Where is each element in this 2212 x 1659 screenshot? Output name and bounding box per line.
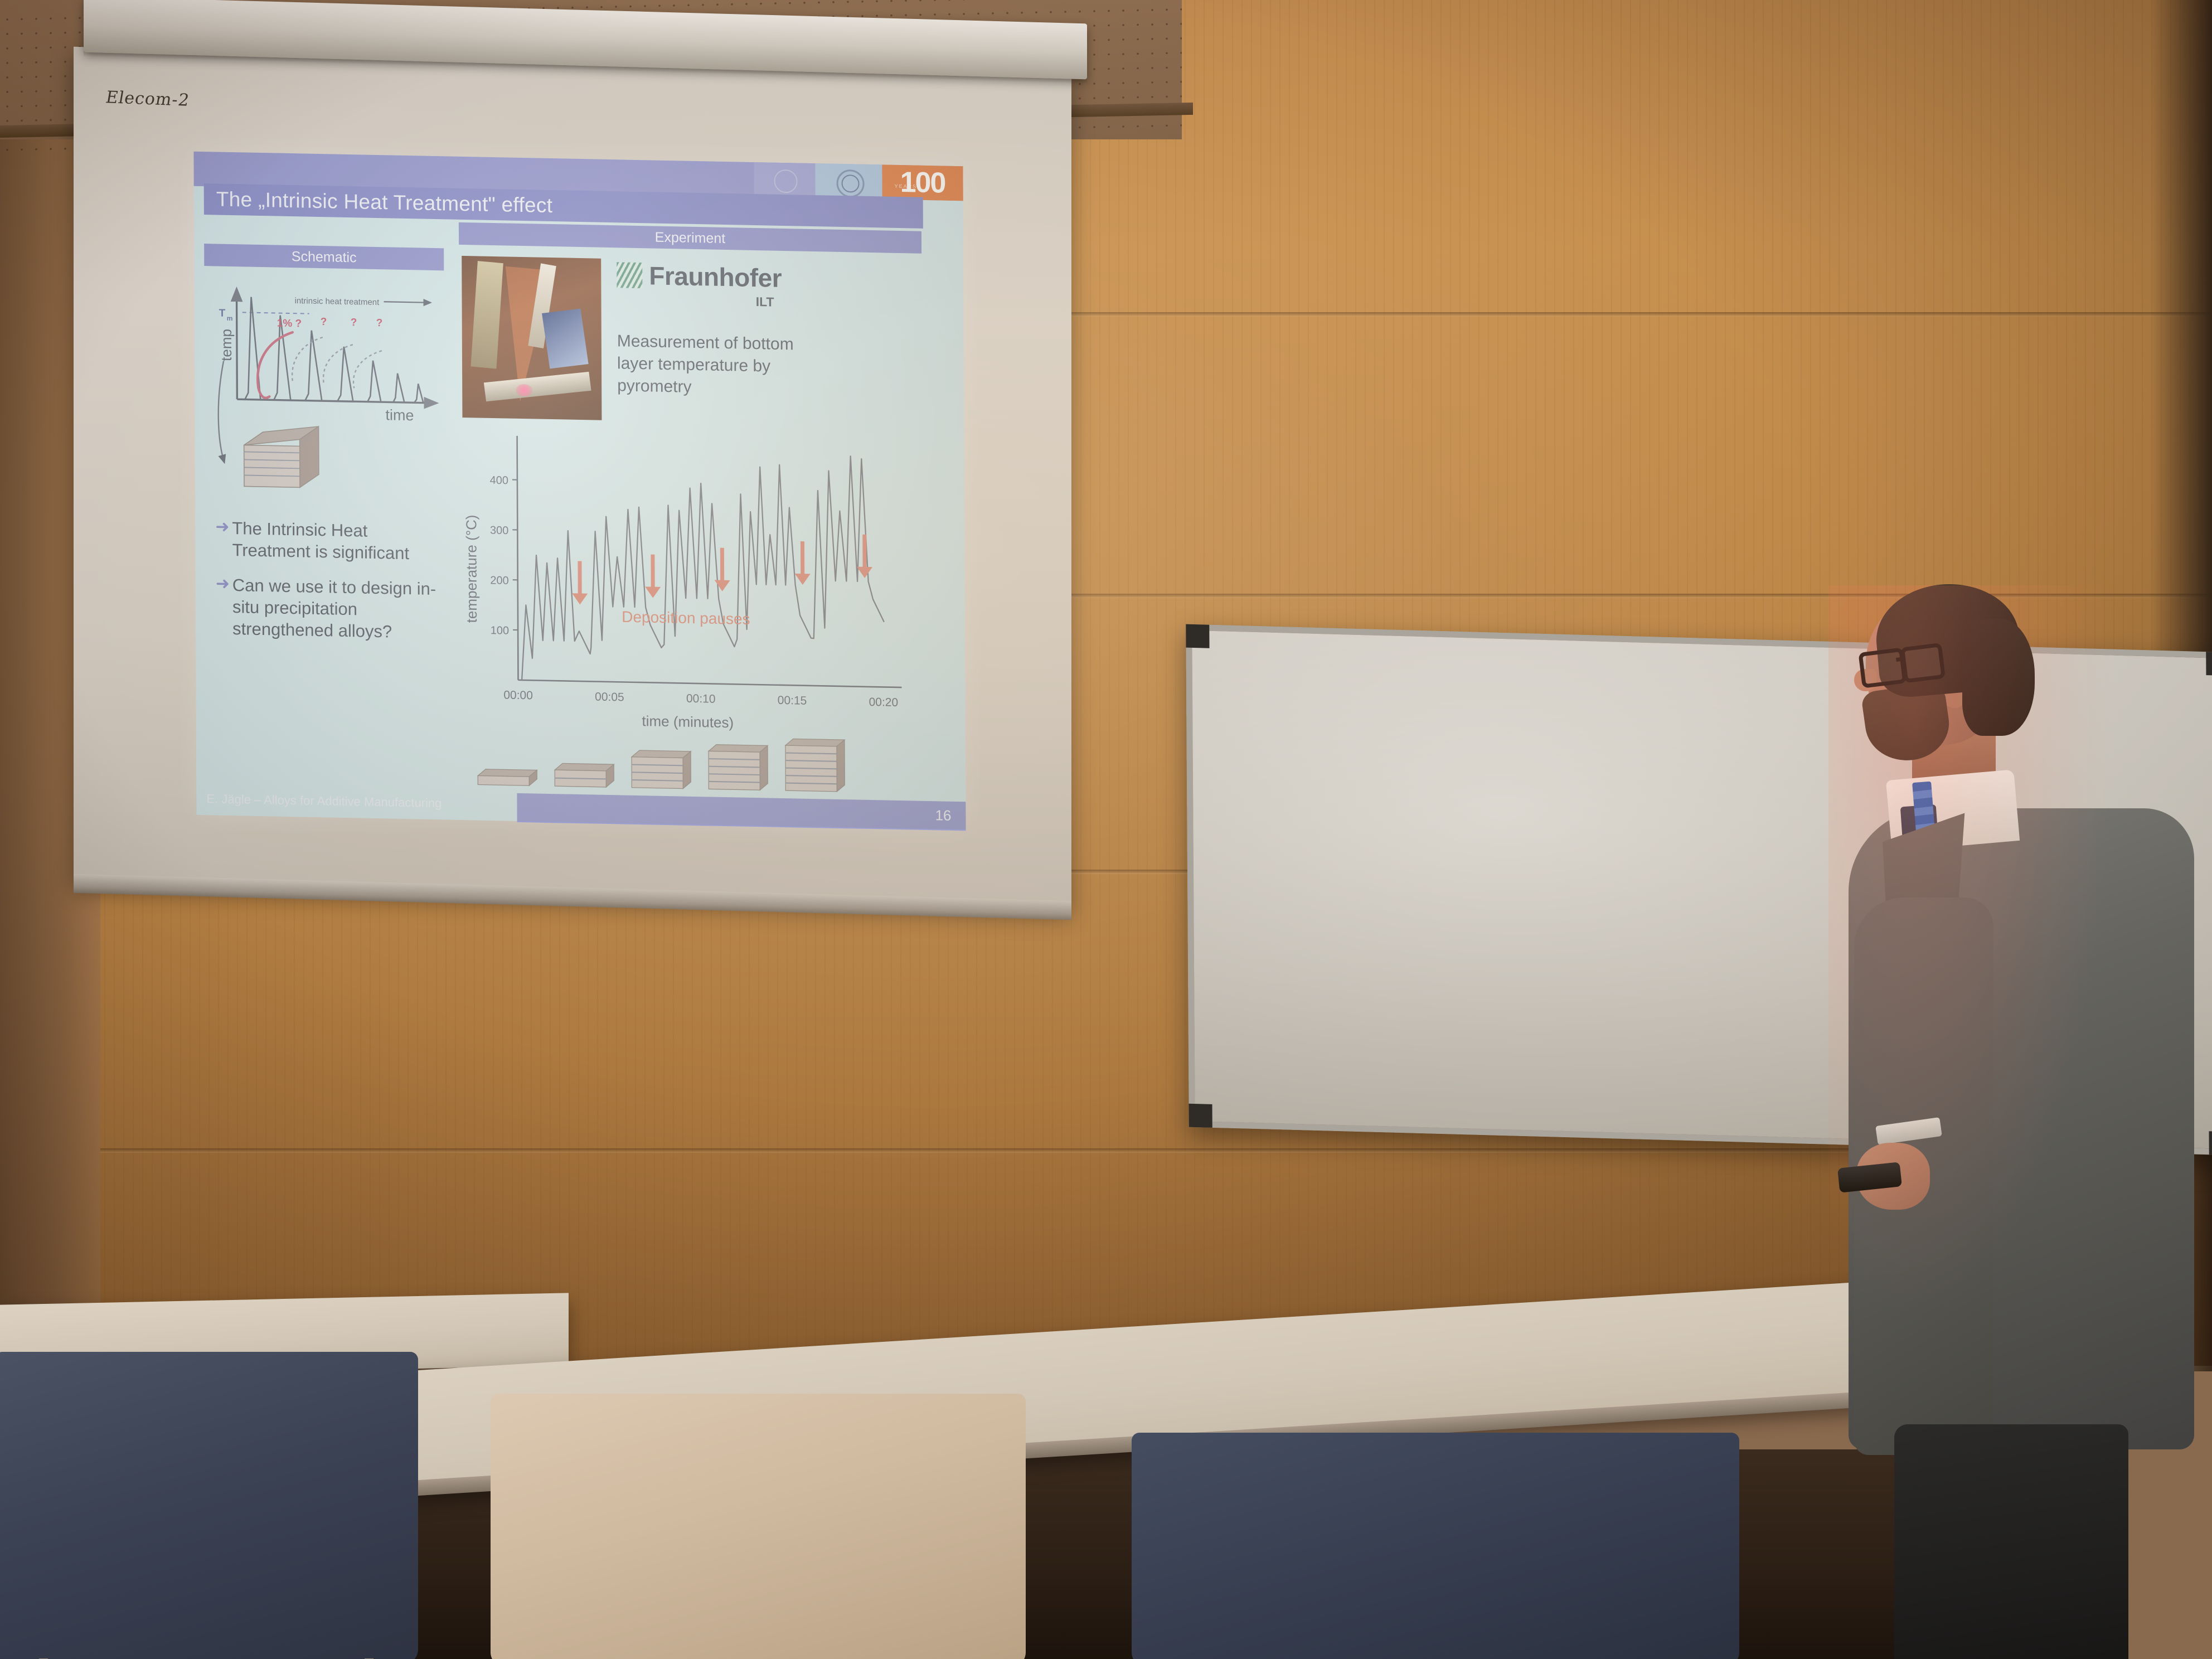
presenter-trousers <box>1894 1424 2128 1659</box>
presenter <box>1745 585 2202 1659</box>
chair-dark-left <box>0 1352 418 1659</box>
presenter-hair-back <box>1962 619 2035 736</box>
lecture-room-photo: Elecom-2 100 YEARS The „Intrinsic Heat T… <box>0 0 2212 1659</box>
chair-beige-middle <box>491 1394 1026 1659</box>
chair-dark-right <box>1132 1433 1739 1659</box>
